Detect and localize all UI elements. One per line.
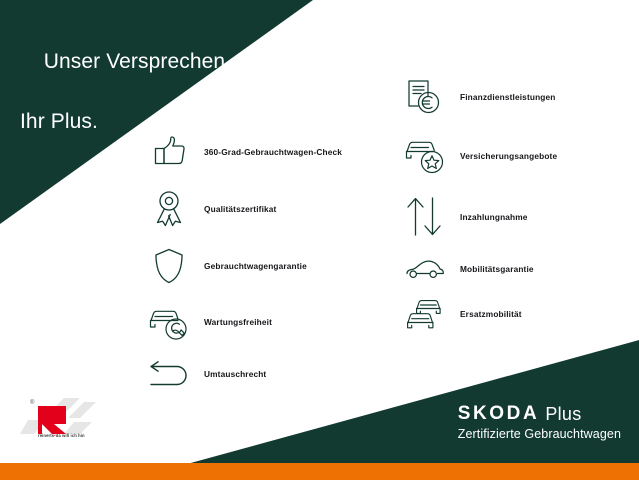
dealer-claim: da will ich hin <box>56 433 85 438</box>
car-wrench-icon <box>142 298 196 346</box>
skoda-wordmark: SKODA <box>458 404 540 424</box>
feature-label: 360-Grad-Gebrauchtwagen-Check <box>204 147 342 157</box>
car-side-icon <box>398 245 452 293</box>
feature-item: Ersatzmobilität <box>398 290 638 338</box>
document-euro-icon <box>398 73 452 121</box>
skoda-plus-word: Plus <box>545 404 581 424</box>
skoda-tagline: Zertifizierte Gebrauchtwagen <box>458 427 621 441</box>
thumbs-up-icon <box>142 128 196 176</box>
feature-label: Mobilitätsgarantie <box>460 264 534 274</box>
two-cars-icon <box>398 290 452 338</box>
feature-item: 360-Grad-Gebrauchtwagen-Check <box>142 124 392 180</box>
feature-label: Finanzdienstleistungen <box>460 92 556 102</box>
up-down-arrows-icon <box>398 193 452 241</box>
feature-label: Qualitätszertifikat <box>204 204 276 214</box>
shield-icon <box>142 242 196 290</box>
promo-banner: Unser Versprechen. Ihr Plus. 360-Grad-Ge… <box>0 0 639 480</box>
dealer-logo: ® reinerts•da will ich hin <box>18 390 114 446</box>
feature-item: Finanzdienstleistungen <box>398 68 638 126</box>
skoda-plus-logo: SKODA Plus Zertifizierte Gebrauchtwagen <box>458 404 621 441</box>
feature-label: Gebrauchtwagengarantie <box>204 261 307 271</box>
feature-label: Umtauschrecht <box>204 369 266 379</box>
feature-item: Gebrauchtwagengarantie <box>142 238 392 294</box>
feature-label: Ersatzmobilität <box>460 309 522 319</box>
award-rosette-icon <box>142 185 196 233</box>
car-star-icon <box>398 132 452 180</box>
dealer-tagline: reinerts•da will ich hin <box>38 433 85 438</box>
feature-label: Inzahlungnahme <box>460 212 528 222</box>
dealer-name: reinerts <box>38 433 54 438</box>
feature-item: Qualitätszertifikat <box>142 180 392 238</box>
feature-item: Umtauschrecht <box>142 350 392 398</box>
feature-item: Wartungsfreiheit <box>142 294 392 350</box>
feature-item: Mobilitätsgarantie <box>398 248 638 290</box>
feature-item: Inzahlungnahme <box>398 186 638 248</box>
feature-label: Wartungsfreiheit <box>204 317 272 327</box>
feature-label: Versicherungsangebote <box>460 151 557 161</box>
feature-list-left: 360-Grad-Gebrauchtwagen-Check Qualitätsz… <box>142 124 392 398</box>
return-arrow-icon <box>142 350 196 398</box>
orange-footer-bar <box>0 463 639 480</box>
feature-item: Versicherungsangebote <box>398 126 638 186</box>
headline-line-1: Unser Versprechen. <box>44 50 231 73</box>
feature-list-right: Finanzdienstleistungen Versicherungsange… <box>398 68 638 338</box>
registered-mark: ® <box>30 399 35 406</box>
